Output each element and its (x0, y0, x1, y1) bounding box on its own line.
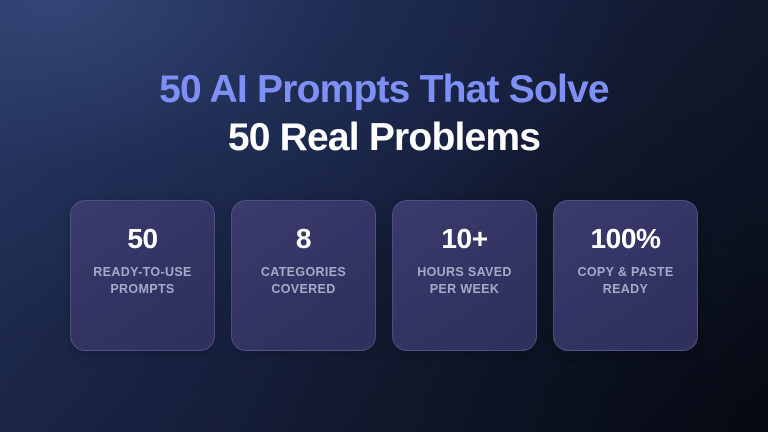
stat-value: 50 (127, 223, 157, 255)
stat-label: COPY & PASTE READY (566, 264, 686, 298)
slide-content: 50 AI Prompts That Solve 50 Real Problem… (0, 0, 768, 432)
title-line-2: 50 Real Problems (0, 114, 768, 162)
stat-value: 10+ (441, 223, 487, 255)
stat-label: HOURS SAVED PER WEEK (405, 264, 525, 298)
title-block: 50 AI Prompts That Solve 50 Real Problem… (0, 66, 768, 162)
promo-slide: 50 AI Prompts That Solve 50 Real Problem… (0, 0, 768, 432)
title-line-1: 50 AI Prompts That Solve (0, 66, 768, 114)
stat-value: 100% (590, 223, 660, 255)
stat-label: READY-TO-USE PROMPTS (83, 264, 203, 298)
stat-label: CATEGORIES COVERED (244, 264, 364, 298)
stat-card: 100% COPY & PASTE READY (553, 200, 698, 351)
stat-card: 8 CATEGORIES COVERED (231, 200, 376, 351)
stat-card: 10+ HOURS SAVED PER WEEK (392, 200, 537, 351)
stat-card: 50 READY-TO-USE PROMPTS (70, 200, 215, 351)
stats-row: 50 READY-TO-USE PROMPTS 8 CATEGORIES COV… (70, 200, 698, 351)
stat-value: 8 (296, 223, 311, 255)
